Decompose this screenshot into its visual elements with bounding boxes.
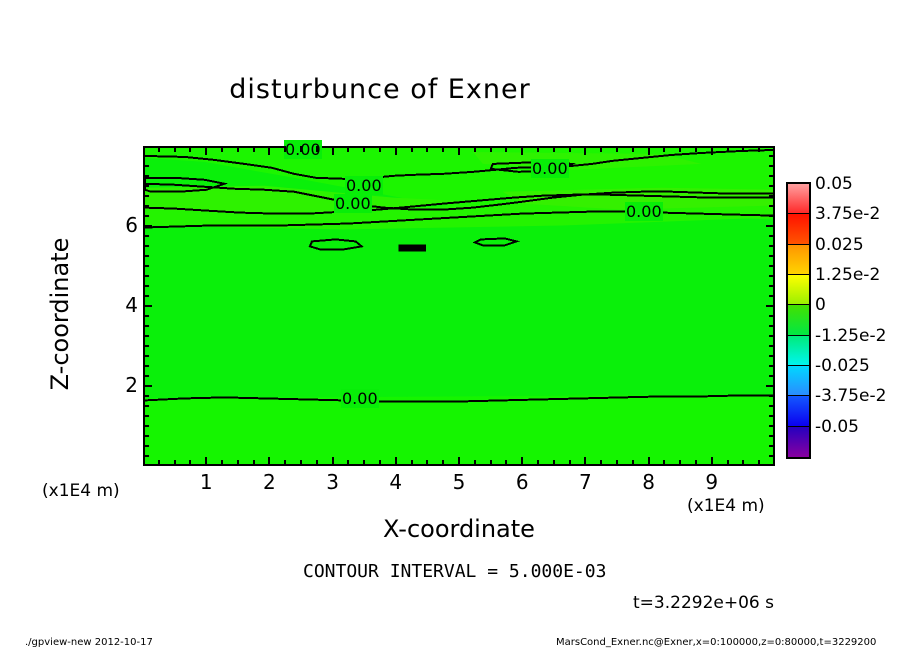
contour-label: 0.00	[345, 176, 383, 195]
contour-plot	[143, 146, 775, 466]
contour-label: 0.00	[334, 194, 372, 213]
contour-label: 0.00	[531, 159, 569, 178]
y-tick-label: 4	[98, 293, 138, 317]
page-title: disturbunce of Exner	[0, 74, 760, 105]
colorbar-band	[788, 366, 809, 396]
colorbar-band	[788, 427, 809, 457]
contour-label: 0.00	[625, 202, 663, 221]
colorbar-band	[788, 184, 809, 214]
colorbar-tick-label: 1.25e-2	[815, 265, 880, 285]
footer-left: ./gpview-new 2012-10-17	[25, 637, 153, 648]
x-tick-label: 7	[565, 470, 605, 494]
x-tick-label: 9	[692, 470, 732, 494]
colorbar-tick-label: 0.05	[815, 174, 853, 194]
x-tick-label: 8	[629, 470, 669, 494]
colorbar-band	[788, 275, 809, 305]
colorbar-band	[788, 245, 809, 275]
y-tick-label: 2	[98, 373, 138, 397]
colorbar-tick-label: -3.75e-2	[815, 386, 886, 406]
colorbar-tick-label: -1.25e-2	[815, 326, 886, 346]
x-tick-label: 4	[376, 470, 416, 494]
x-axis-title: X-coordinate	[143, 515, 775, 543]
colorbar	[786, 182, 811, 459]
contour-label: 0.00	[341, 389, 379, 408]
footer-right: MarsCond_Exner.nc@Exner,x=0:100000,z=0:8…	[556, 637, 876, 648]
y-tick-label: 6	[98, 213, 138, 237]
colorbar-tick-label: -0.025	[815, 356, 870, 376]
colorbar-band	[788, 336, 809, 366]
colorbar-tick-label: 0	[815, 295, 826, 315]
colorbar-band	[788, 305, 809, 335]
colorbar-tick-label: 3.75e-2	[815, 204, 880, 224]
colorbar-band	[788, 396, 809, 426]
timestamp-text: t=3.2292e+06 s	[633, 593, 774, 613]
x-tick-label: 3	[313, 470, 353, 494]
colorbar-tick-label: 0.025	[815, 235, 864, 255]
contour-label: 0.00	[284, 140, 322, 159]
x-tick-label: 1	[186, 470, 226, 494]
colorbar-band	[788, 214, 809, 244]
x-unit-left: (x1E4 m)	[42, 481, 120, 501]
x-tick-label: 5	[439, 470, 479, 494]
x-unit-right: (x1E4 m)	[687, 496, 765, 516]
colorbar-tick-label: -0.05	[815, 417, 859, 437]
x-tick-label: 6	[502, 470, 542, 494]
contour-interval-text: CONTOUR INTERVAL = 5.000E-03	[303, 561, 606, 582]
x-tick-label: 2	[249, 470, 289, 494]
contour-field	[145, 148, 773, 466]
y-axis-title: Z-coordinate	[46, 194, 74, 434]
